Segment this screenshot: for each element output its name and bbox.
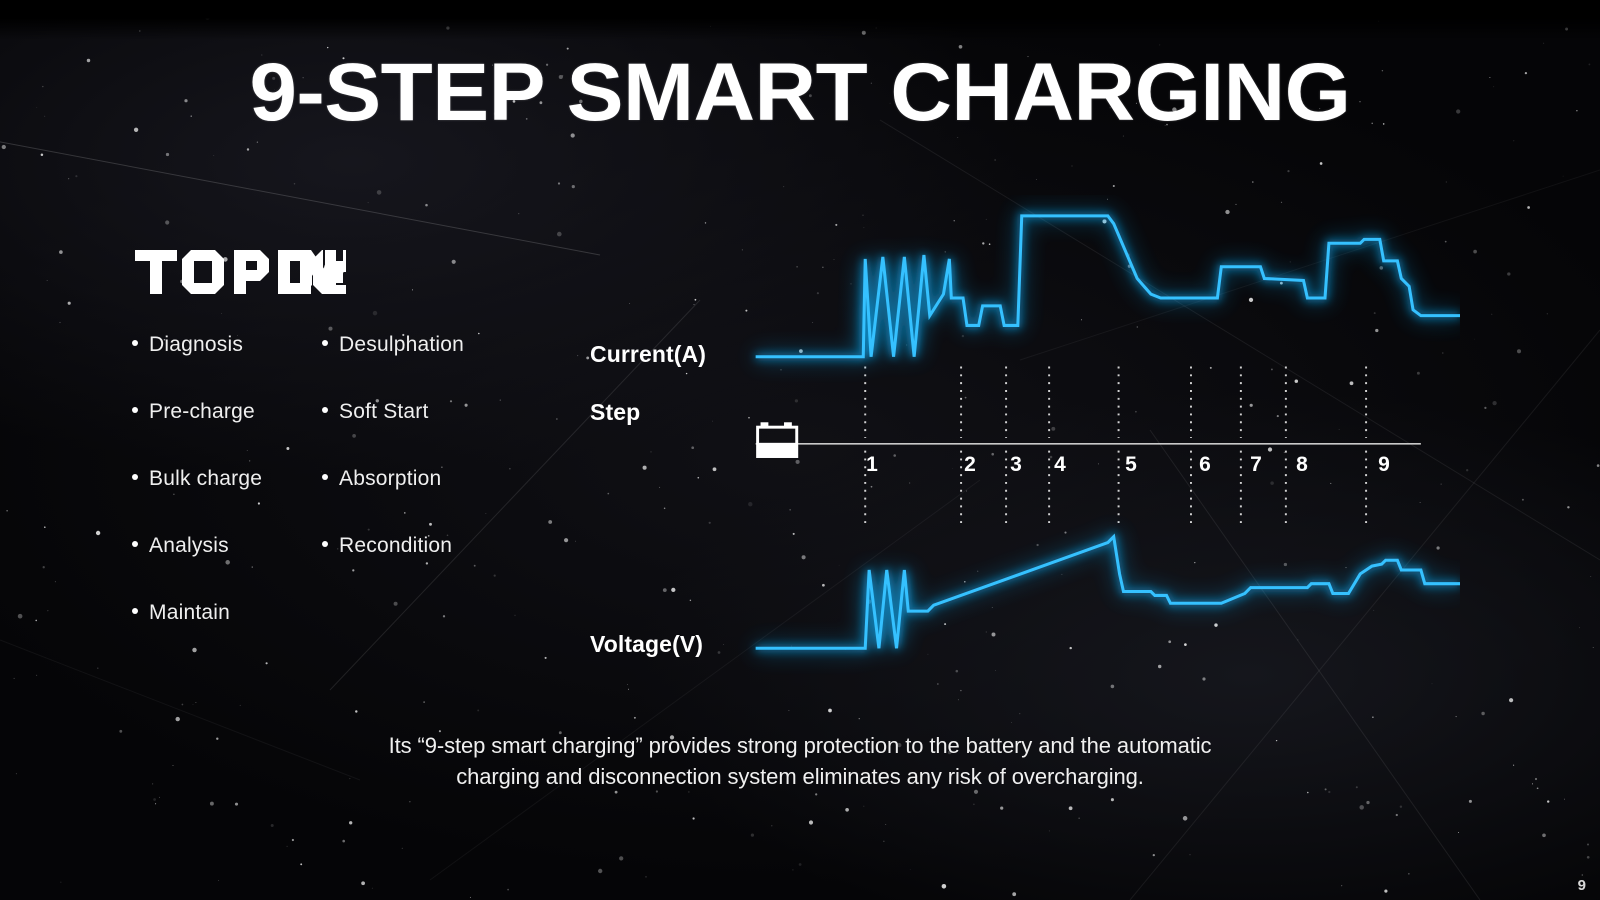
feature-row: Pre-charge Soft Start	[132, 400, 552, 467]
feature-label: Pre-charge	[149, 400, 255, 424]
feature-item-recondition: Recondition	[322, 534, 552, 558]
feature-item-diagnosis: Diagnosis	[132, 333, 322, 357]
feature-item-soft-start: Soft Start	[322, 400, 552, 424]
voltage-waveform	[756, 537, 1460, 649]
feature-label: Recondition	[339, 534, 452, 558]
bullet-dot-icon	[322, 541, 328, 547]
bullet-dot-icon	[132, 474, 138, 480]
feature-row: Analysis Recondition	[132, 534, 552, 601]
feature-label: Absorption	[339, 467, 441, 491]
feature-item-absorption: Absorption	[322, 467, 552, 491]
bullet-dot-icon	[322, 407, 328, 413]
feature-item-desulphation: Desulphation	[322, 333, 552, 357]
bullet-dot-icon	[322, 340, 328, 346]
feature-label: Analysis	[149, 534, 229, 558]
bullet-dot-icon	[132, 340, 138, 346]
slide-canvas: 9-STEP SMART CHARGING	[0, 0, 1600, 900]
step-tick-3: 3	[1010, 453, 1022, 477]
battery-icon	[758, 422, 797, 457]
bullet-dot-icon	[132, 407, 138, 413]
feature-row: Diagnosis Desulphation	[132, 333, 552, 400]
feature-label: Soft Start	[339, 400, 429, 424]
chart-gridlines	[865, 367, 1366, 524]
topdon-logo-n	[300, 250, 348, 299]
step-tick-4: 4	[1054, 453, 1066, 477]
charging-profile-chart: Current(A) Step Voltage(V)	[560, 195, 1460, 675]
axis-label-voltage: Voltage(V)	[590, 631, 703, 658]
caption-line-1: Its “9-step smart charging” provides str…	[0, 730, 1600, 761]
bullet-dot-icon	[132, 541, 138, 547]
topdon-logo-letter-n	[300, 250, 348, 294]
caption-line-2: charging and disconnection system elimin…	[0, 761, 1600, 792]
voltage-waveform-glow	[756, 537, 1460, 649]
feature-row: Bulk charge Absorption	[132, 467, 552, 534]
step-tick-9: 9	[1378, 453, 1390, 477]
bullet-dot-icon	[322, 474, 328, 480]
feature-item-bulk-charge: Bulk charge	[132, 467, 322, 491]
top-vignette	[0, 0, 1600, 40]
current-waveform-glow	[756, 216, 1460, 357]
caption-text: Its “9-step smart charging” provides str…	[0, 730, 1600, 792]
page-title: 9-STEP SMART CHARGING	[0, 52, 1600, 134]
axis-label-step: Step	[590, 399, 640, 426]
chart-plot-area	[560, 195, 1460, 675]
step-tick-2: 2	[964, 453, 976, 477]
feature-label: Maintain	[149, 601, 230, 625]
step-tick-1: 1	[866, 453, 878, 477]
feature-label: Diagnosis	[149, 333, 243, 357]
feature-item-analysis: Analysis	[132, 534, 322, 558]
feature-label: Bulk charge	[149, 467, 262, 491]
current-waveform	[756, 216, 1460, 357]
axis-label-current: Current(A)	[590, 341, 706, 368]
feature-item-pre-charge: Pre-charge	[132, 400, 322, 424]
feature-item-maintain: Maintain	[132, 601, 322, 625]
feature-row: Maintain	[132, 601, 552, 668]
step-tick-6: 6	[1199, 453, 1211, 477]
bullet-dot-icon	[132, 608, 138, 614]
feature-label: Desulphation	[339, 333, 464, 357]
feature-list: Diagnosis Desulphation Pre-charge Soft S…	[132, 333, 552, 668]
step-tick-7: 7	[1250, 453, 1262, 477]
page-number: 9	[1578, 877, 1586, 894]
step-tick-5: 5	[1125, 453, 1137, 477]
step-tick-8: 8	[1296, 453, 1308, 477]
